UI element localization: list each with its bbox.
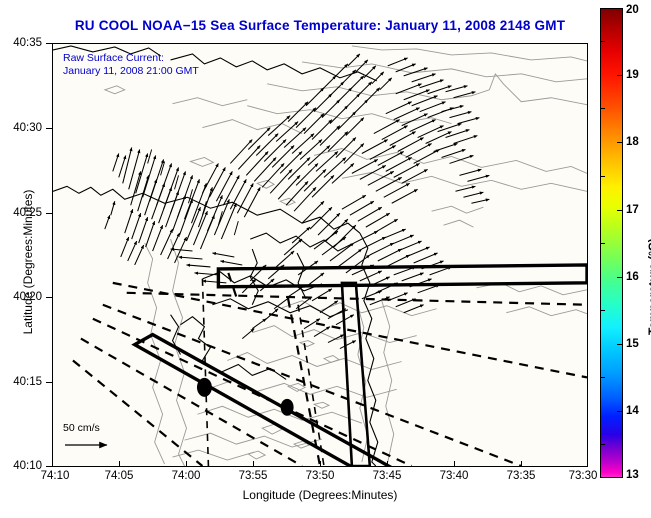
- colorbar-tick-label-16: 16: [626, 271, 639, 283]
- x-tick-label-2: 74:00: [172, 470, 201, 482]
- annotation-line-1: Raw Surface Current:: [63, 52, 164, 65]
- y-axis-title: Latitude (Degrees:Minutes): [21, 152, 35, 372]
- y-tick-label-5: 40:10: [0, 460, 42, 472]
- x-tick-label-3: 73:55: [239, 470, 268, 482]
- colorbar-title: Temperature (°C): [646, 165, 651, 335]
- y-tick-label-0: 40:35: [0, 37, 42, 49]
- colorbar-tick-label-20: 20: [626, 4, 639, 16]
- x-tick-label-0: 74:10: [41, 470, 70, 482]
- colorbar-tick-label-19: 19: [626, 69, 639, 81]
- colorbar-tick-label-18: 18: [626, 136, 639, 148]
- x-tick-label-6: 73:40: [440, 470, 469, 482]
- x-tick-label-5: 73:45: [373, 470, 402, 482]
- x-tick-label-4: 73:50: [306, 470, 335, 482]
- annotation-line-2: January 11, 2008 21:00 GMT: [63, 65, 199, 78]
- y-tick-label-1: 40:30: [0, 122, 42, 134]
- x-tick-label-8: 73:30: [569, 470, 598, 482]
- station-marker-1: [197, 378, 212, 397]
- y-tick-label-4: 40:15: [0, 376, 42, 388]
- x-axis-title: Longitude (Degrees:Minutes): [52, 488, 588, 502]
- colorbar-tick-label-17: 17: [626, 204, 639, 216]
- figure-title: RU COOL NOAA−15 Sea Surface Temperature:…: [52, 18, 588, 33]
- colorbar-tick-label-15: 15: [626, 338, 639, 350]
- colorbar-tick-label-13: 13: [626, 469, 639, 481]
- colorbar-tick-label-14: 14: [626, 405, 639, 417]
- x-tick-label-7: 73:35: [507, 470, 536, 482]
- sst-map-figure: RU COOL NOAA−15 Sea Surface Temperature:…: [0, 0, 651, 518]
- station-marker-2: [281, 399, 294, 416]
- map-graphics: [53, 44, 587, 466]
- map-plot-area: Raw Surface Current: January 11, 2008 21…: [52, 43, 588, 467]
- x-tick-label-1: 74:05: [105, 470, 134, 482]
- scalebar-label: 50 cm/s: [63, 422, 100, 434]
- scalebar-arrow: [63, 438, 123, 452]
